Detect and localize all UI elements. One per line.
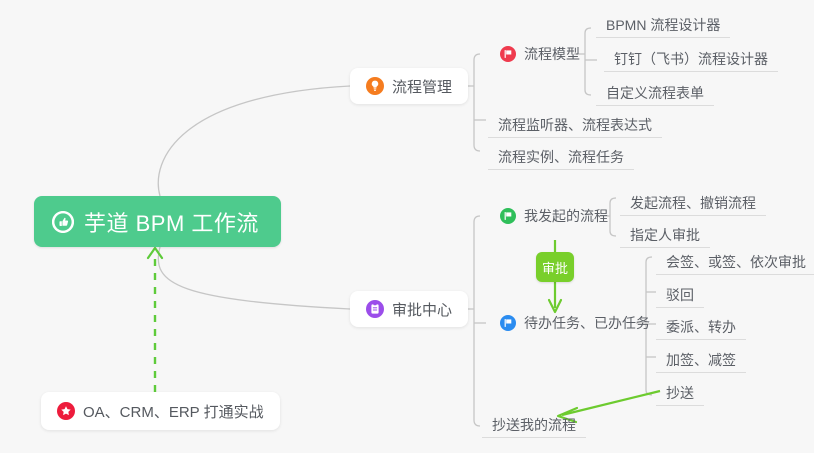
branch-approval-center[interactable]: 审批中心 (350, 291, 468, 327)
link-started-corner-bottom (610, 231, 616, 236)
node-process-listener-expression[interactable]: 流程监听器、流程表达式 (488, 108, 662, 138)
node-label: 发起流程、撤销流程 (630, 193, 756, 213)
node-bpmn-designer[interactable]: BPMN 流程设计器 (596, 8, 730, 38)
link-root-to-approval-center (158, 247, 350, 309)
link-pm-corner-top (474, 54, 480, 60)
node-process-model[interactable]: 流程模型 (490, 41, 590, 67)
node-reject[interactable]: 驳回 (656, 278, 704, 308)
link-todo-corner-top (646, 257, 652, 262)
node-label: 指定人审批 (630, 225, 700, 245)
node-process-instance-task[interactable]: 流程实例、流程任务 (488, 140, 634, 170)
node-start-cancel-process[interactable]: 发起流程、撤销流程 (620, 186, 766, 216)
mindmap-canvas: 芋道 BPM 工作流 流程管理 流程模型 BPMN 流程设计器 钉钉（飞书）流程 (0, 0, 814, 453)
node-label: 驳回 (666, 285, 694, 305)
lightbulb-icon (366, 77, 384, 95)
node-label: 抄送 (666, 383, 694, 403)
root-node[interactable]: 芋道 BPM 工作流 (34, 196, 281, 247)
link-model-corner-bottom (585, 90, 591, 95)
root-label: 芋道 BPM 工作流 (84, 206, 259, 238)
clipboard-icon (366, 300, 384, 318)
node-label: 流程实例、流程任务 (498, 147, 624, 167)
branch-label: 审批中心 (392, 299, 452, 320)
approval-tag-label: 审批 (542, 258, 568, 277)
flag-icon (500, 315, 516, 331)
integration-note-node[interactable]: OA、CRM、ERP 打通实战 (41, 392, 280, 430)
branch-label: 流程管理 (392, 76, 452, 97)
integration-note-label: OA、CRM、ERP 打通实战 (83, 401, 264, 422)
node-label: 流程模型 (524, 44, 580, 64)
node-label: 抄送我的流程 (492, 415, 576, 435)
link-ac-corner-bottom (474, 420, 480, 426)
star-icon (57, 402, 75, 420)
node-custom-process-form[interactable]: 自定义流程表单 (596, 76, 714, 106)
dashed-arrow-group (148, 248, 162, 392)
node-my-started-processes[interactable]: 我发起的流程 (490, 203, 618, 229)
node-label: 会签、或签、依次审批 (666, 252, 806, 272)
node-label: 委派、转办 (666, 317, 736, 337)
flag-icon (500, 208, 516, 224)
link-root-to-process-management (158, 86, 350, 196)
node-label: 钉钉（飞书）流程设计器 (614, 49, 768, 69)
thumbs-up-icon (52, 211, 74, 233)
node-add-remove-sign[interactable]: 加签、减签 (656, 343, 746, 373)
link-todo-corner-bottom (646, 390, 652, 395)
node-label: 自定义流程表单 (606, 83, 704, 103)
branch-process-management[interactable]: 流程管理 (350, 68, 468, 104)
flag-icon (500, 46, 516, 62)
node-countersign-orsign-sequential[interactable]: 会签、或签、依次审批 (656, 245, 814, 275)
dashed-arrow-head (148, 248, 162, 258)
link-ac-corner-top (474, 216, 480, 222)
node-carbon-copy[interactable]: 抄送 (656, 376, 704, 406)
node-dingtalk-feishu-designer[interactable]: 钉钉（飞书）流程设计器 (604, 42, 778, 72)
link-pm-corner-bottom (474, 145, 480, 151)
link-model-corner-top (585, 28, 591, 33)
node-label: 加签、减签 (666, 350, 736, 370)
approval-tag[interactable]: 审批 (536, 252, 574, 282)
node-delegate-transfer[interactable]: 委派、转办 (656, 310, 746, 340)
node-cc-to-me-processes[interactable]: 抄送我的流程 (482, 408, 586, 438)
node-label: 待办任务、已办任务 (524, 313, 650, 333)
node-label: 我发起的流程 (524, 206, 608, 226)
node-label: 流程监听器、流程表达式 (498, 115, 652, 135)
node-label: BPMN 流程设计器 (606, 15, 720, 35)
node-assignee-approval[interactable]: 指定人审批 (620, 218, 710, 248)
node-todo-done-tasks[interactable]: 待办任务、已办任务 (490, 310, 660, 336)
